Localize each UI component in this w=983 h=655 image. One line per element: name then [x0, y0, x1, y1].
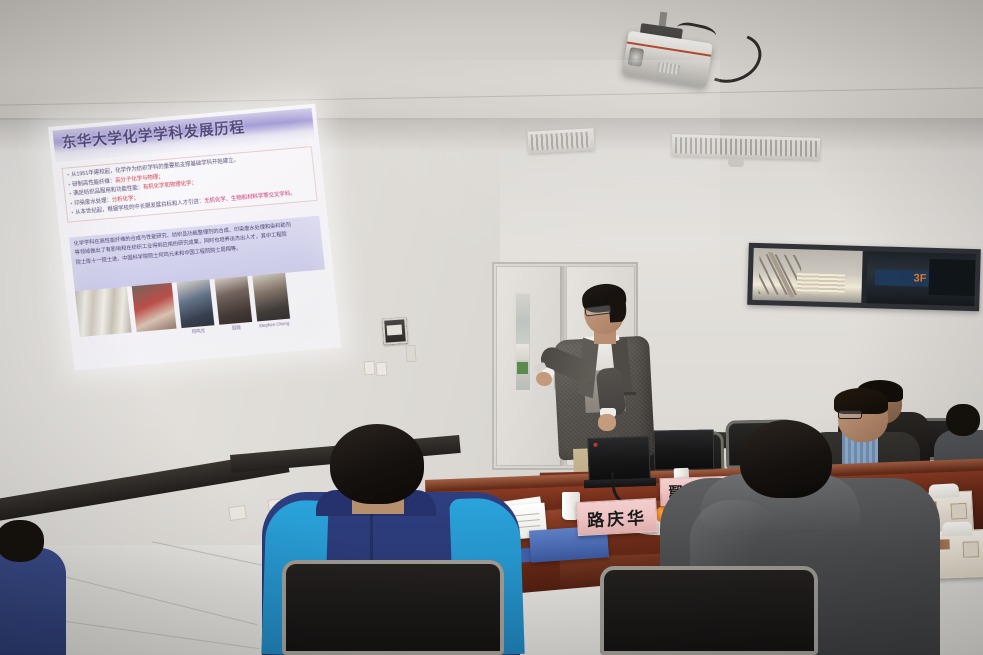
name-placard: 路庆华	[576, 498, 658, 536]
foreground-attendee-blue-head	[330, 424, 424, 504]
wall-outlet-plate[interactable]	[228, 505, 247, 521]
interior-window: 3F	[747, 243, 981, 311]
left-edge-attendee-head	[0, 520, 44, 562]
far-right-attendee-head	[946, 404, 980, 436]
presenter-right-hand	[598, 414, 616, 431]
presentation-slide: 东华大学化学学科发展历程 •从1951年建校起，化学作为纺织学科的重要和支撑基础…	[48, 104, 341, 371]
slide-photo	[132, 283, 177, 332]
foreground-attendee-grey-head	[740, 420, 832, 498]
window-pane-left	[752, 248, 862, 303]
floor-sign: 3F	[874, 269, 930, 287]
ceiling-vent-right-icon	[672, 134, 821, 160]
wall-switch-plate[interactable]	[375, 362, 387, 377]
door-green-label	[517, 362, 528, 374]
wall-switch-plate[interactable]	[363, 361, 375, 376]
wall-outlet-plate[interactable]	[405, 345, 416, 363]
ceiling-vent-left-icon	[527, 128, 594, 153]
window-pane-right: 3F	[866, 251, 976, 306]
slide-photo	[252, 273, 290, 322]
slide-photo	[214, 276, 252, 325]
wall-control-panel[interactable]	[382, 317, 408, 345]
smoke-detector-icon	[728, 158, 744, 168]
office-chair[interactable]	[600, 566, 818, 655]
conference-room-photo: 东华大学化学学科发展历程 •从1951年建校起，化学作为纺织学科的重要和支撑基础…	[0, 0, 983, 655]
thinkpad-logo-icon	[593, 443, 597, 447]
door-sticker	[516, 344, 529, 360]
projection-screen: 东华大学化学学科发展历程 •从1951年建校起，化学作为纺织学科的重要和支撑基础…	[48, 104, 341, 371]
laptop-right[interactable]	[654, 430, 714, 470]
projector-lens-icon	[628, 47, 645, 67]
slide-photo	[177, 279, 215, 328]
office-chair[interactable]	[282, 560, 504, 655]
slide-photo	[75, 287, 132, 337]
eyeglasses-icon	[838, 410, 862, 419]
left-edge-attendee-body	[0, 548, 66, 655]
floor-sign-label: 3F	[913, 273, 926, 284]
door-vision-panel	[514, 292, 532, 392]
